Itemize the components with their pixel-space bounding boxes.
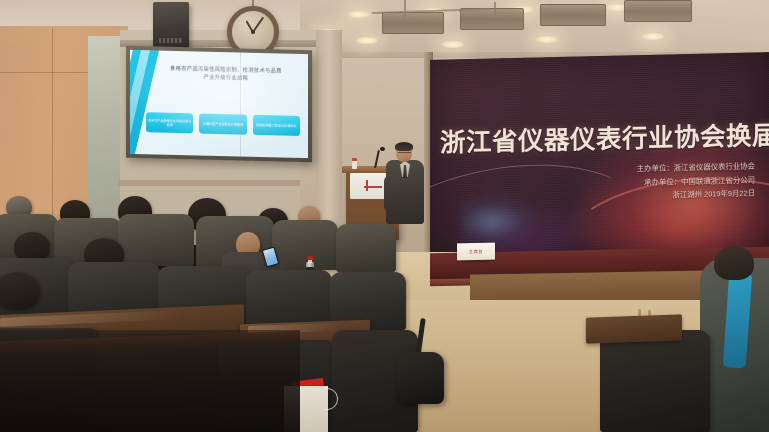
audience-seat <box>336 224 396 272</box>
microphone-head <box>380 147 385 151</box>
slide-box-text: 食用农产品质量安全风险识别与检测 <box>148 118 192 128</box>
right-audience-head <box>714 246 754 280</box>
clock-center-pin <box>251 30 255 34</box>
led-banner: 浙江省仪器仪表行业协会换届暨智 主办单位：浙江省仪器仪表行业协会 承办单位：中国… <box>430 52 769 260</box>
ceiling-light-fixture <box>624 0 692 22</box>
projection-screen-surface: 食用农产品污染性风险识别、检测技术与品质 产业升级行业战略 食用农产品质量安全风… <box>130 50 308 158</box>
fixture-support-rod <box>404 0 406 18</box>
nameplate-text: 主席台 <box>469 248 483 254</box>
audience-head <box>0 272 40 310</box>
slide-box-group: 食用农产品质量安全风险识别与检测 仪器仪表产业智能化升级路径 检验检测能力建设与… <box>146 112 300 136</box>
ceiling-light-fixture <box>382 12 444 34</box>
foreground-shadow-mass <box>0 330 300 432</box>
projection-screen: 食用农产品污染性风险识别、检测技术与品质 产业升级行业战略 食用农产品质量安全风… <box>126 46 312 163</box>
ceiling-downlight <box>346 10 372 19</box>
ceiling-light-fixture <box>460 8 524 30</box>
slide-title: 食用农产品污染性风险识别、检测技术与品质 产业升级行业战略 <box>154 65 298 84</box>
audience-seat <box>600 330 710 432</box>
wall-base-band <box>118 180 323 186</box>
seat-desk <box>586 314 682 343</box>
presenter-arm <box>384 176 395 212</box>
audience-seat <box>118 214 194 266</box>
podium-logo <box>364 180 382 191</box>
wall-speaker <box>153 2 189 50</box>
bottle-cap <box>308 256 313 260</box>
presenter-glasses <box>398 152 411 155</box>
banner-main-title: 浙江省仪器仪表行业协会换届暨智 <box>440 115 769 160</box>
slide-box-text: 仪器仪表产业智能化升级路径 <box>203 121 243 126</box>
banner-place-date-line: 浙江湖州 2019年9月22日 <box>637 187 755 203</box>
ceiling-downlight <box>354 36 380 45</box>
wall-pillar <box>316 30 342 235</box>
conference-hall-photo: 食用农产品污染性风险识别、检测技术与品质 产业升级行业战略 食用农产品质量安全风… <box>0 0 769 432</box>
ceiling-downlight <box>534 35 560 44</box>
banner-subtitle-block: 主办单位：浙江省仪器仪表行业协会 承办单位：中国联通浙江省分公司 浙江湖州 20… <box>637 159 755 203</box>
ceiling-downlight <box>640 32 666 41</box>
backpack <box>396 352 444 404</box>
stage-nameplate: 主席台 <box>457 243 495 261</box>
slide-box: 食用农产品质量安全风险识别与检测 <box>146 112 193 133</box>
fixture-support-rod <box>494 2 496 16</box>
presenter-hair <box>395 142 413 151</box>
bottle-neck <box>308 260 312 263</box>
ceiling-light-fixture <box>540 4 606 26</box>
slide-box: 检验检测能力建设与标准体系 <box>253 115 300 136</box>
screen-panel-seam <box>240 53 241 157</box>
slide-box-text: 检验检测能力建设与标准体系 <box>256 123 296 128</box>
podium-water-bottle <box>352 158 357 169</box>
ceiling-downlight <box>440 40 466 49</box>
